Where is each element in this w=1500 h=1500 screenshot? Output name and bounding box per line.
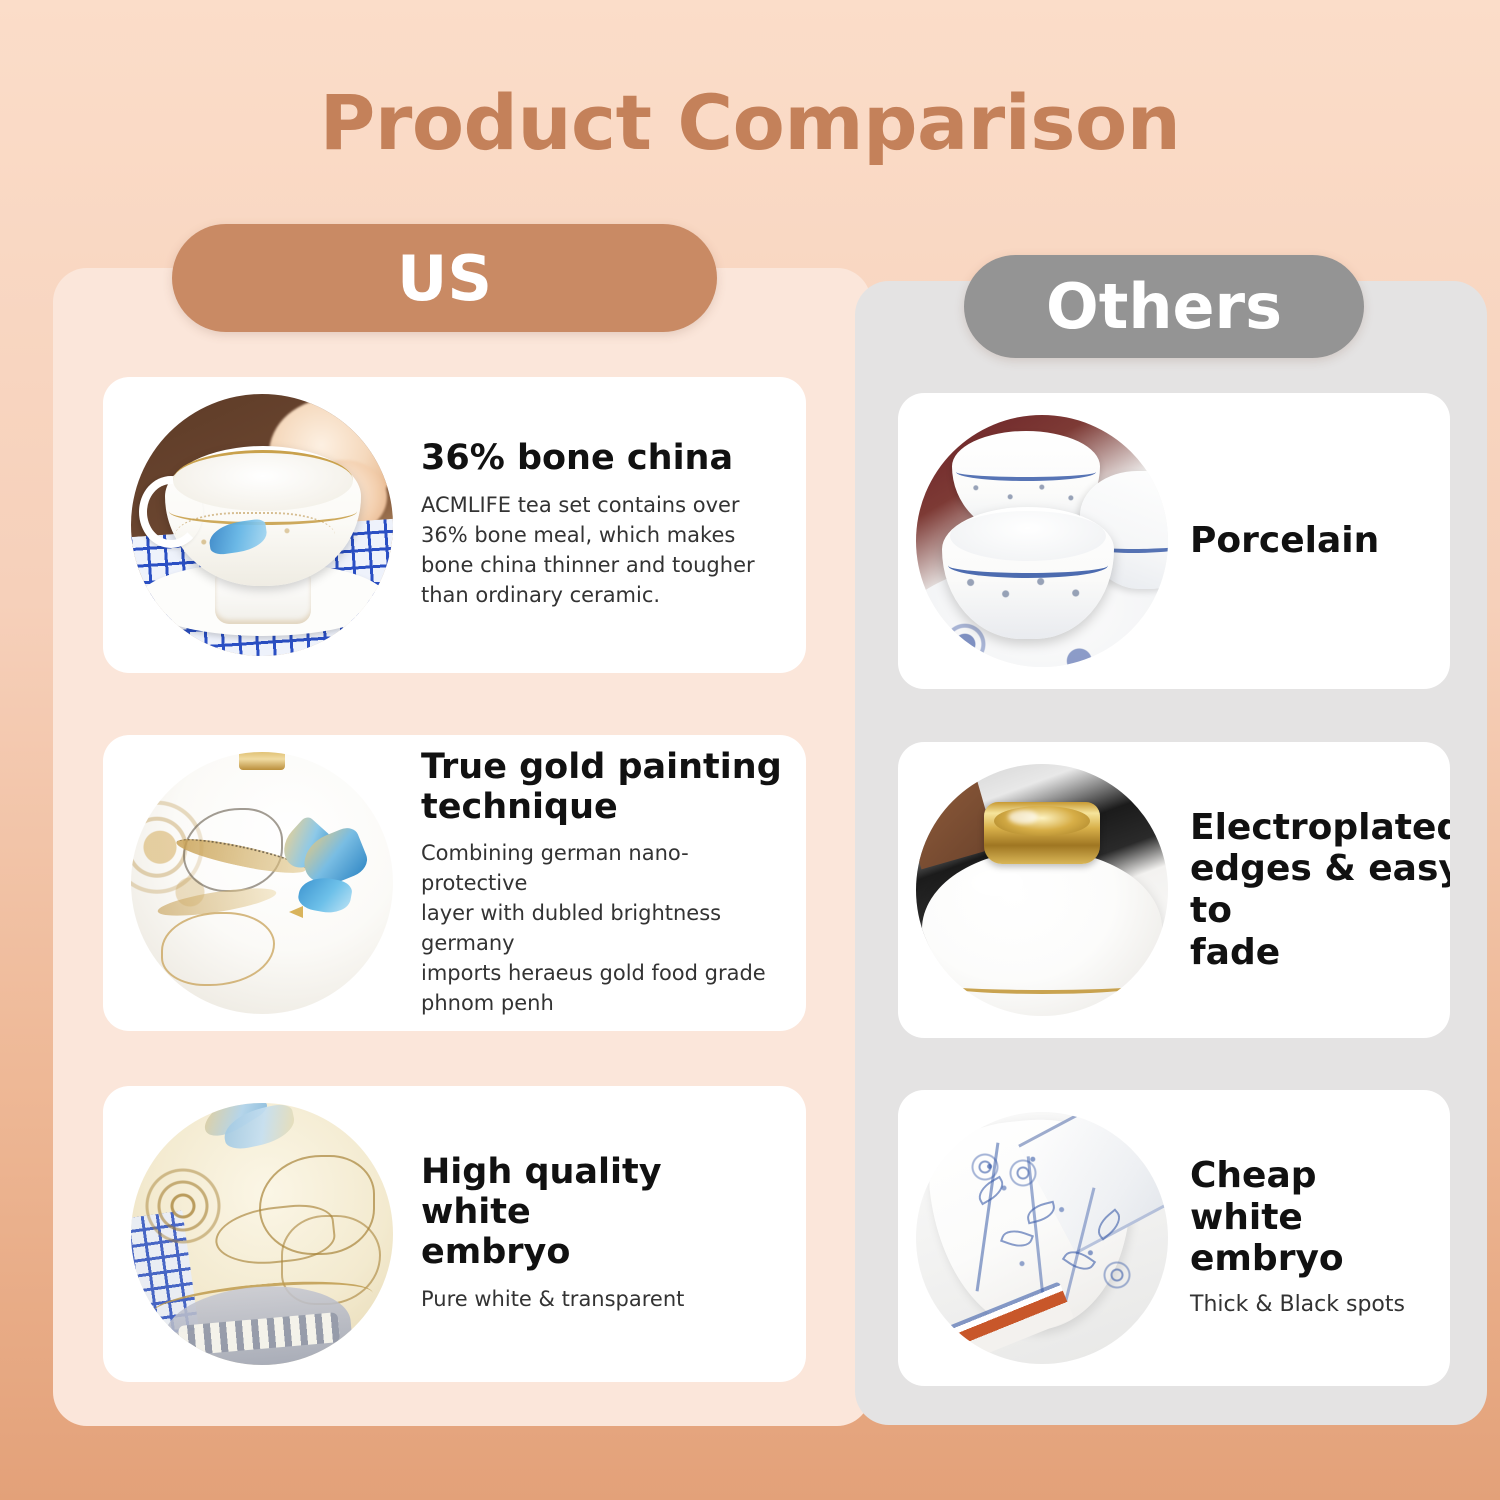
- electroplated-gold-lid-jar-photo: [916, 764, 1168, 1016]
- bone-china-teacup-photo: [131, 394, 393, 656]
- others-badge-label: Others: [1046, 270, 1282, 343]
- others-feature-card-3: Cheap white embryo Thick & Black spots: [898, 1090, 1450, 1386]
- white-embryo-cup-photo: [131, 1103, 393, 1365]
- others-feature-text-1: Porcelain: [1168, 520, 1450, 562]
- us-badge-label: US: [397, 242, 492, 315]
- us-feature-body-1: ACMLIFE tea set contains over 36% bone m…: [421, 491, 782, 610]
- others-feature-heading-3: Cheap white embryo: [1190, 1155, 1432, 1280]
- us-feature-text-1: 36% bone china ACMLIFE tea set contains …: [393, 439, 806, 610]
- others-badge: Others: [964, 255, 1364, 358]
- others-feature-card-1: Porcelain: [898, 393, 1450, 689]
- us-feature-text-3: High quality white embryo Pure white & t…: [393, 1153, 806, 1314]
- others-feature-heading-2: Electroplated edges & easy to fade: [1190, 807, 1450, 974]
- us-badge: US: [172, 224, 717, 332]
- others-feature-body-3: Thick & Black spots: [1190, 1290, 1432, 1321]
- gold-painted-teapot-photo: [131, 752, 393, 1014]
- us-feature-heading-3: High quality white embryo: [421, 1153, 782, 1273]
- page-title: Product Comparison: [0, 78, 1500, 167]
- us-feature-card-3: High quality white embryo Pure white & t…: [103, 1086, 806, 1382]
- us-feature-body-3: Pure white & transparent: [421, 1285, 782, 1315]
- us-feature-card-1: 36% bone china ACMLIFE tea set contains …: [103, 377, 806, 673]
- product-comparison-infographic: Product Comparison 36% bone china ACMLIF…: [0, 0, 1500, 1500]
- us-feature-card-2: True gold painting technique Combining g…: [103, 735, 806, 1031]
- us-feature-body-2: Combining german nano-protective layer w…: [421, 839, 782, 1018]
- others-feature-text-3: Cheap white embryo Thick & Black spots: [1168, 1155, 1450, 1321]
- others-feature-text-2: Electroplated edges & easy to fade: [1168, 807, 1450, 974]
- others-feature-card-2: Electroplated edges & easy to fade: [898, 742, 1450, 1038]
- us-feature-heading-2: True gold painting technique: [421, 748, 782, 828]
- us-feature-heading-1: 36% bone china: [421, 439, 782, 479]
- blue-white-porcelain-bowls-photo: [916, 415, 1168, 667]
- others-feature-heading-1: Porcelain: [1190, 520, 1432, 562]
- us-feature-text-2: True gold painting technique Combining g…: [393, 748, 806, 1019]
- cheap-white-embryo-cup-photo: [916, 1112, 1168, 1364]
